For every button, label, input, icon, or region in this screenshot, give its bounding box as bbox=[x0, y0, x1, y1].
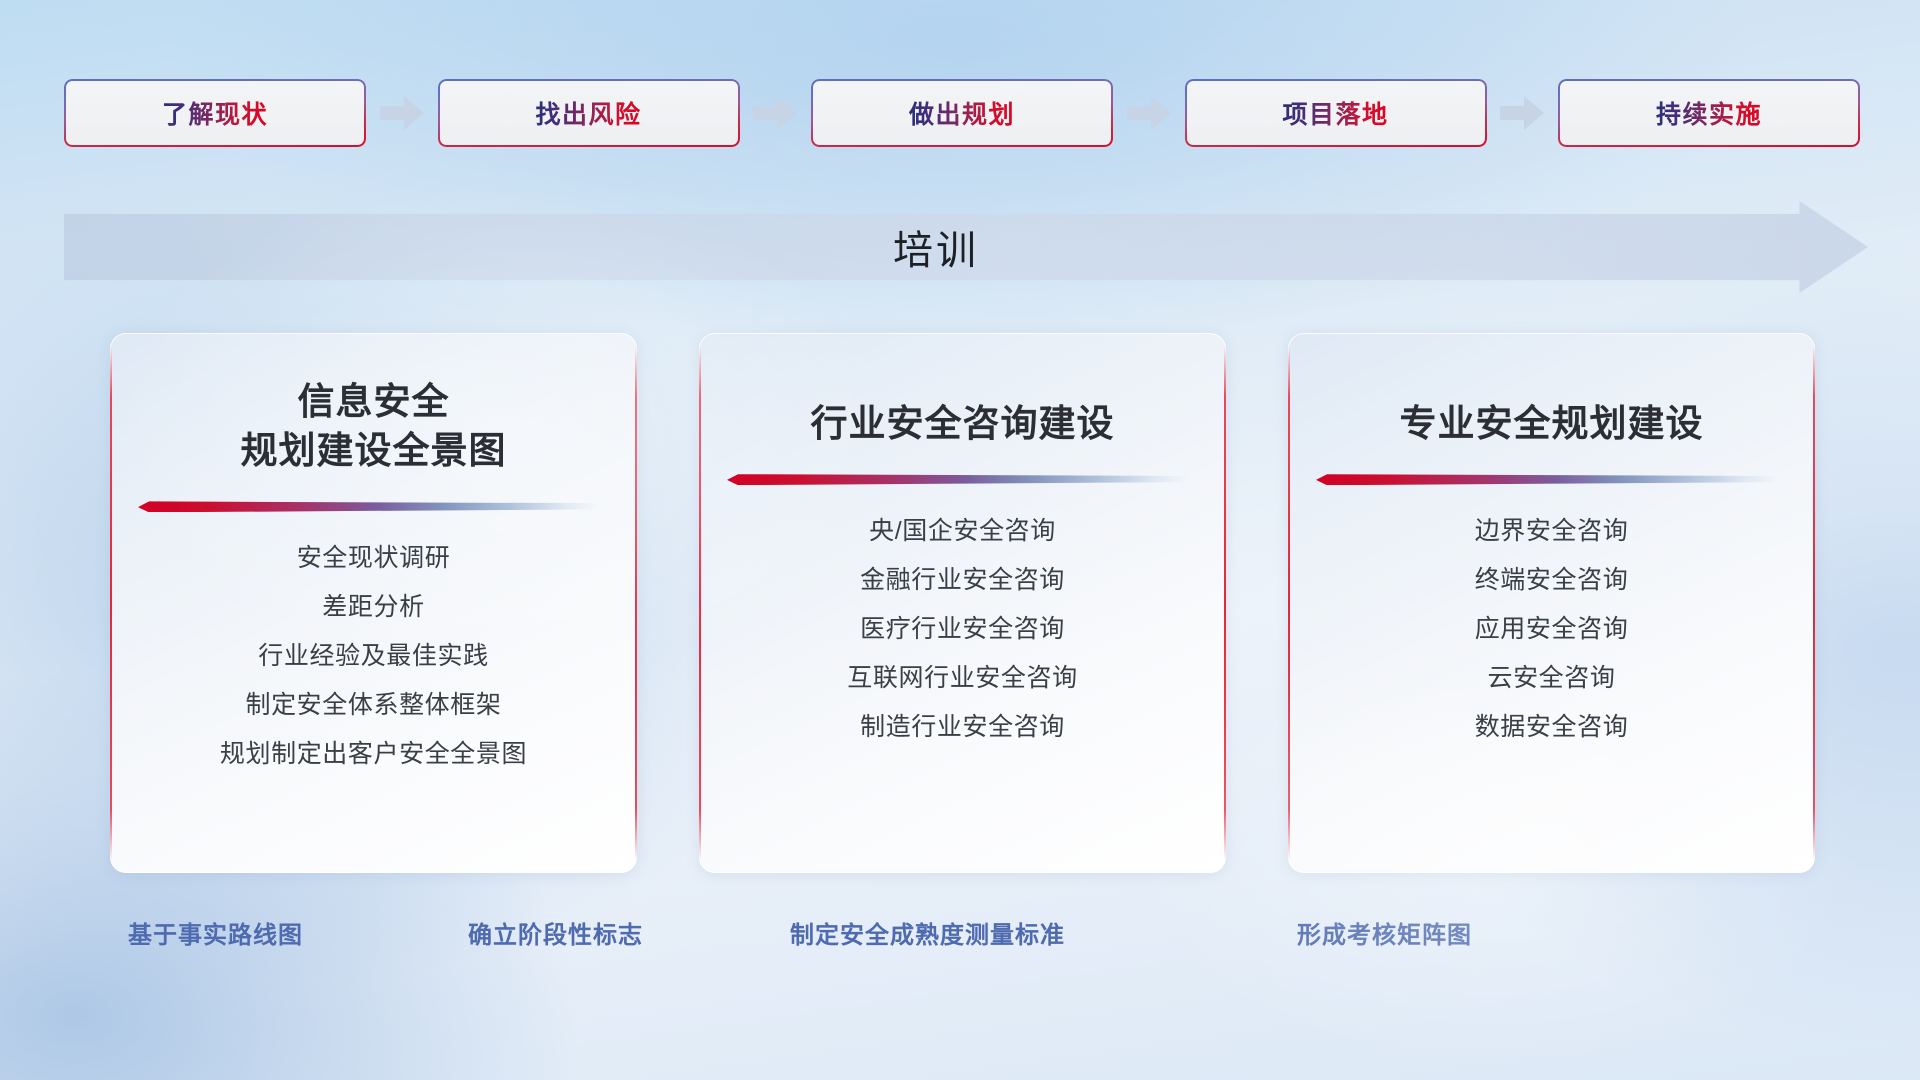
process-step-label: 做出规划 bbox=[909, 95, 1015, 131]
list-item: 行业经验及最佳实践 bbox=[258, 632, 488, 681]
process-step-2[interactable]: 找出风险 bbox=[438, 79, 740, 147]
list-item: 安全现状调研 bbox=[297, 534, 451, 583]
process-step-label: 了解现状 bbox=[162, 95, 268, 131]
training-banner: 培训 bbox=[64, 201, 1868, 293]
caption-row: 基于事实路线图 确立阶段性标志 制定安全成熟度测量标准 形成考核矩阵图 bbox=[0, 915, 1920, 963]
process-step-label: 找出风险 bbox=[535, 95, 641, 131]
list-item: 互联网行业安全咨询 bbox=[847, 654, 1077, 703]
arrow-right-icon bbox=[740, 96, 812, 130]
caption-milestones: 确立阶段性标志 bbox=[468, 915, 643, 950]
process-step-4[interactable]: 项目落地 bbox=[1185, 79, 1487, 147]
card-item-list: 安全现状调研 差距分析 行业经验及最佳实践 制定安全体系整体框架 规划制定出客户… bbox=[110, 534, 637, 779]
list-item: 应用安全咨询 bbox=[1475, 605, 1629, 654]
card-industry-security-consulting[interactable]: 行业安全咨询建设 央/国企安全咨询 金融行业安全咨询 医疗行业安全咨询 互联网行… bbox=[699, 333, 1226, 873]
caption-scoring-matrix: 形成考核矩阵图 bbox=[1297, 915, 1472, 950]
card-info-security-blueprint[interactable]: 信息安全 规划建设全景图 安全现状调研 差距分析 行业经验及最佳实践 制定安全体… bbox=[110, 333, 637, 873]
list-item: 金融行业安全咨询 bbox=[860, 556, 1065, 605]
process-step-1[interactable]: 了解现状 bbox=[64, 79, 366, 147]
caption-maturity-metric: 制定安全成熟度测量标准 bbox=[790, 915, 1065, 950]
slide-canvas: 了解现状 找出风险 做出规划 项目落地 bbox=[0, 0, 1920, 1080]
list-item: 制定安全体系整体框架 bbox=[245, 681, 501, 730]
process-step-5[interactable]: 持续实施 bbox=[1558, 79, 1860, 147]
arrow-right-icon bbox=[1113, 96, 1185, 130]
process-step-row: 了解现状 找出风险 做出规划 项目落地 bbox=[64, 78, 1860, 148]
process-step-label: 项目落地 bbox=[1282, 95, 1388, 131]
card-row: 信息安全 规划建设全景图 安全现状调研 差距分析 行业经验及最佳实践 制定安全体… bbox=[110, 333, 1815, 873]
caption-roadmap: 基于事实路线图 bbox=[128, 915, 303, 950]
process-step-label: 持续实施 bbox=[1656, 95, 1762, 131]
list-item: 央/国企安全咨询 bbox=[869, 507, 1056, 556]
card-professional-security-planning[interactable]: 专业安全规划建设 边界安全咨询 终端安全咨询 应用安全咨询 云安全咨询 数据安全… bbox=[1288, 333, 1815, 873]
process-step-3[interactable]: 做出规划 bbox=[811, 79, 1113, 147]
list-item: 数据安全咨询 bbox=[1475, 703, 1629, 752]
banner-title: 培训 bbox=[64, 201, 1868, 293]
list-item: 差距分析 bbox=[322, 583, 424, 632]
list-item: 医疗行业安全咨询 bbox=[860, 605, 1065, 654]
arrow-right-icon bbox=[366, 96, 438, 130]
card-item-list: 央/国企安全咨询 金融行业安全咨询 医疗行业安全咨询 互联网行业安全咨询 制造行… bbox=[699, 507, 1226, 752]
card-item-list: 边界安全咨询 终端安全咨询 应用安全咨询 云安全咨询 数据安全咨询 bbox=[1288, 507, 1815, 752]
card-divider bbox=[1316, 474, 1777, 485]
list-item: 终端安全咨询 bbox=[1475, 556, 1629, 605]
arrow-right-icon bbox=[1487, 96, 1559, 130]
list-item: 规划制定出客户安全全景图 bbox=[220, 730, 527, 779]
list-item: 边界安全咨询 bbox=[1475, 507, 1629, 556]
card-title: 行业安全咨询建设 bbox=[699, 399, 1226, 448]
card-title: 专业安全规划建设 bbox=[1288, 399, 1815, 448]
list-item: 制造行业安全咨询 bbox=[860, 703, 1065, 752]
card-divider bbox=[138, 501, 599, 512]
card-divider bbox=[727, 474, 1188, 485]
list-item: 云安全咨询 bbox=[1487, 654, 1615, 703]
card-title: 信息安全 规划建设全景图 bbox=[110, 377, 637, 475]
